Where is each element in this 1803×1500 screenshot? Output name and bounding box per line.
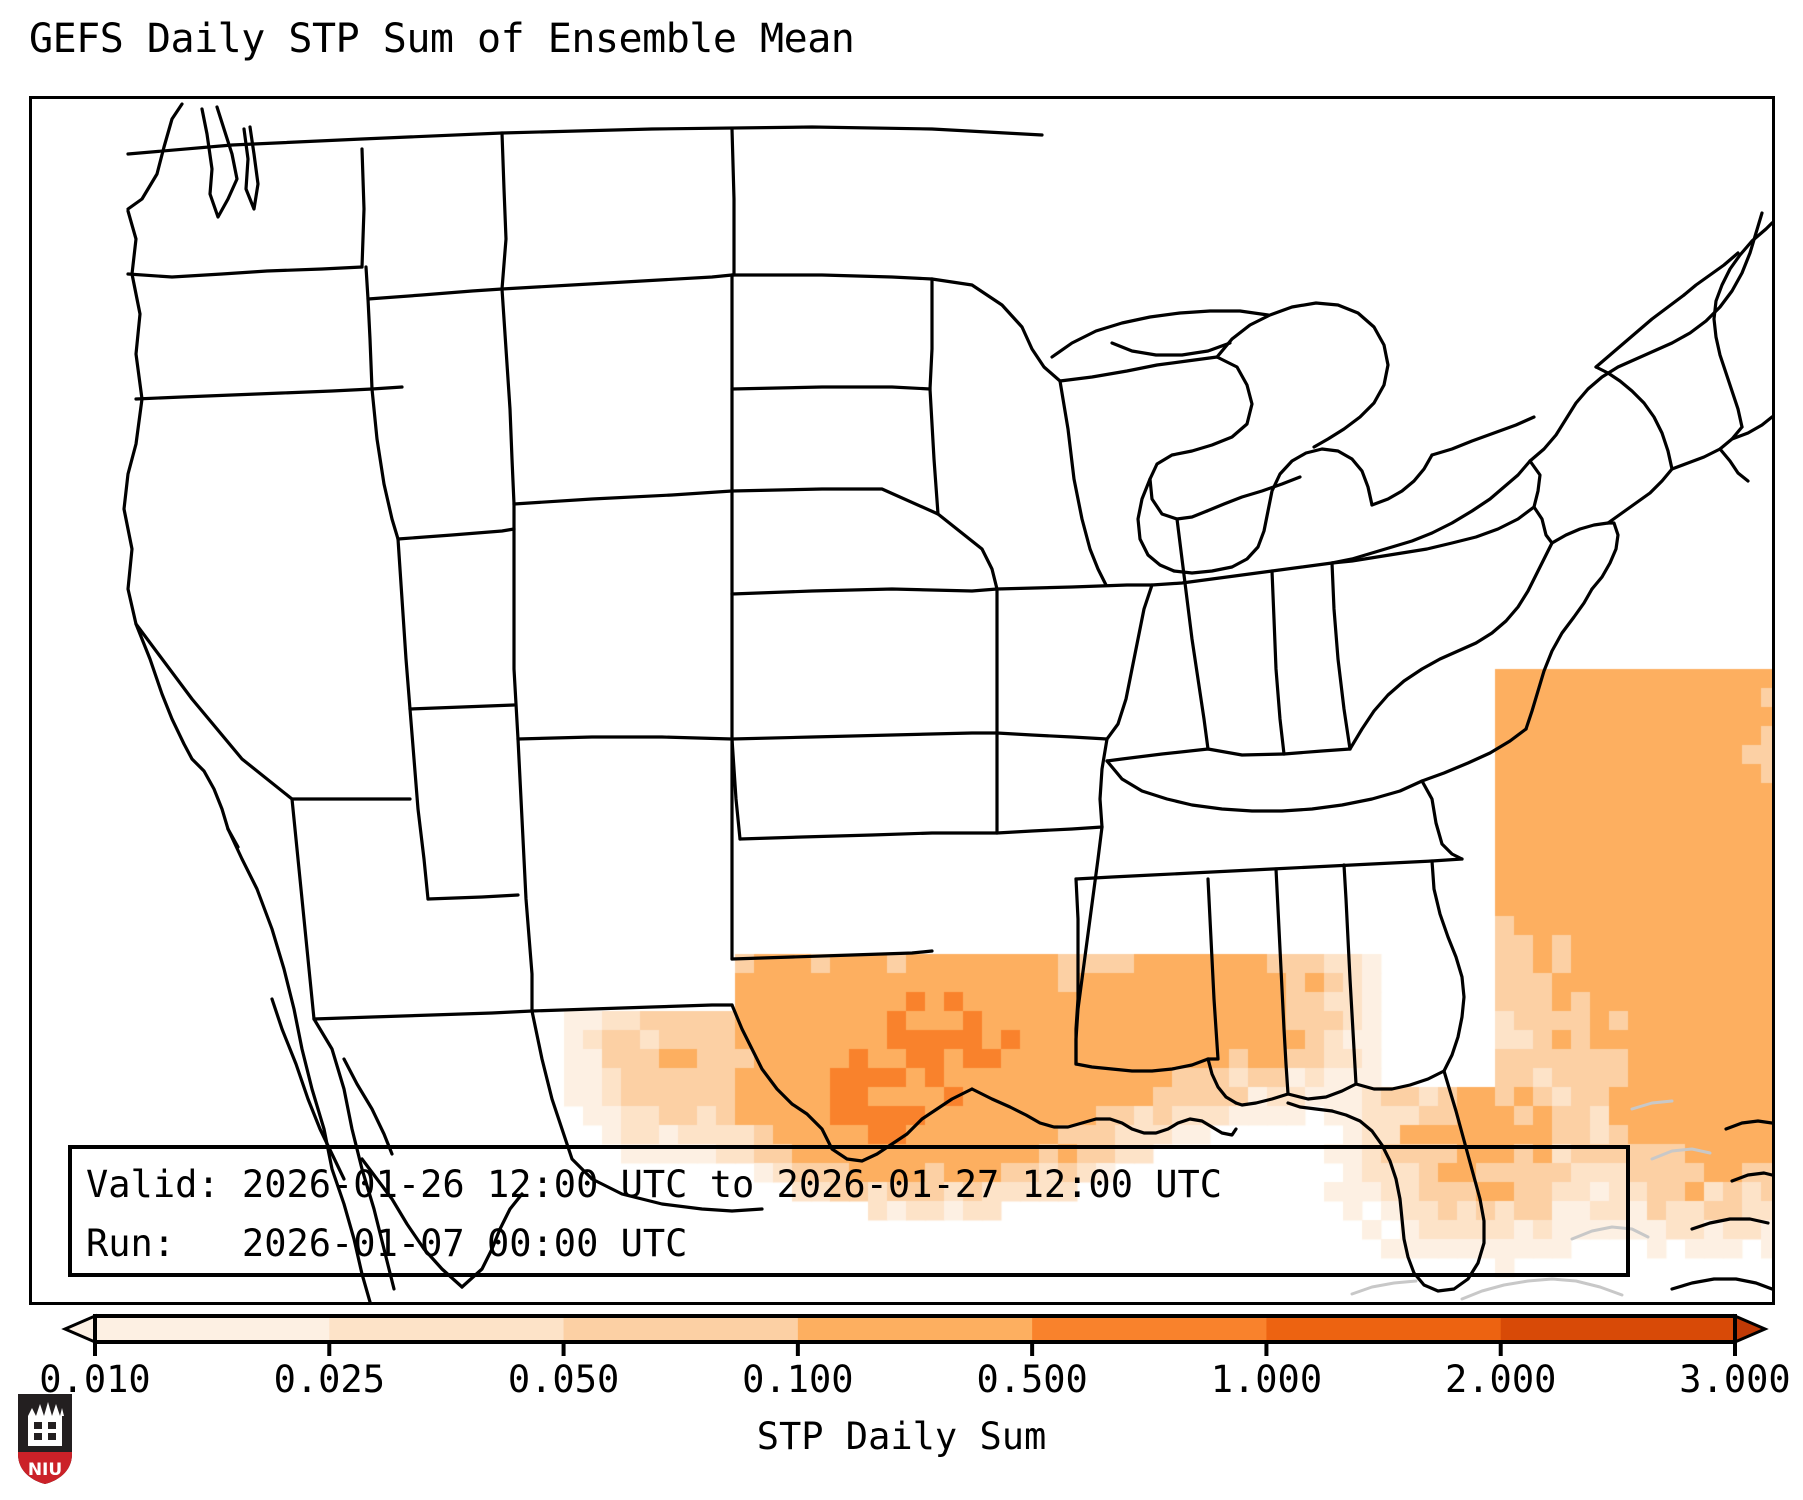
colorbar-tick-0-100: 0.100 [742,1358,853,1401]
colorbar-tick-0-025: 0.025 [274,1358,385,1401]
valid-time-line: Valid: 2026-01-26 12:00 UTC to 2026-01-2… [86,1155,1612,1214]
colorbar-tick-0-500: 0.500 [976,1358,1087,1401]
page-title: GEFS Daily STP Sum of Ensemble Mean [29,16,854,62]
colorbar-axis-label: STP Daily Sum [0,1415,1803,1458]
map-plot-area: Valid: 2026-01-26 12:00 UTC to 2026-01-2… [29,96,1775,1305]
run-time-line: Run: 2026-01-07 00:00 UTC [86,1214,1612,1273]
map-inner: Valid: 2026-01-26 12:00 UTC to 2026-01-2… [32,99,1772,1302]
geography-outlines [32,99,1772,1302]
colorbar-tick-0-050: 0.050 [508,1358,619,1401]
niu-logo: NIU [14,1390,76,1486]
colorbar-tick-2-000: 2.000 [1445,1358,1556,1401]
colorbar-region: 0.0100.0250.0500.1000.5001.0002.0003.000… [0,1310,1803,1500]
colorbar-tick-3-000: 3.000 [1679,1358,1790,1401]
niu-logo-text: NIU [28,1460,62,1480]
colorbar-tick-1-000: 1.000 [1211,1358,1322,1401]
forecast-info-box: Valid: 2026-01-26 12:00 UTC to 2026-01-2… [68,1145,1630,1277]
